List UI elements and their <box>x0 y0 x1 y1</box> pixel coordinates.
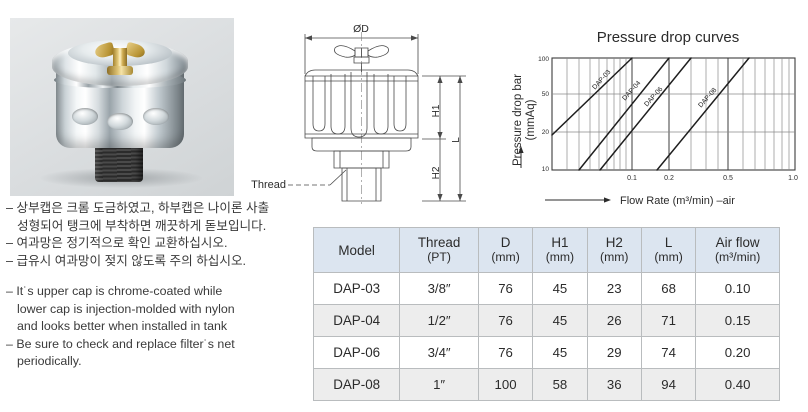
wing-nut-collar <box>107 66 133 75</box>
note-en-line: – Be sure to check and replace filter˙s … <box>6 336 306 354</box>
table-row: DAP-08 1″ 100 58 36 94 0.40 <box>314 369 780 401</box>
chart-xtick-label: 0.1 <box>627 175 637 182</box>
cell-h2: 29 <box>587 337 641 369</box>
body-dimple <box>143 108 169 125</box>
chart-ytick-label: 50 <box>542 91 550 98</box>
chart-ytick-label: 100 <box>538 56 549 63</box>
note-en-line: periodically. <box>6 353 306 371</box>
cell-model: DAP-06 <box>314 337 400 369</box>
cell-airflow: 0.15 <box>696 305 780 337</box>
wing-nut-icon <box>96 44 144 74</box>
column-header-text: H2 <box>606 235 623 250</box>
column-header-thread: Thread (PT) <box>400 228 479 273</box>
thread-callout-label: Thread <box>251 179 286 191</box>
column-header-text: L <box>665 235 672 250</box>
cell-h1: 45 <box>533 305 587 337</box>
table-row: DAP-03 3/8″ 76 45 23 68 0.10 <box>314 273 780 305</box>
column-header-unit: (mm) <box>589 250 640 265</box>
chart-xlabel: Flow Rate (m³/min) –air <box>620 195 735 207</box>
note-ko-line: – 여과망은 정기적으로 확인 교환하십시오. <box>6 235 306 253</box>
column-header-d: D (mm) <box>478 228 532 273</box>
column-header-unit: (PT) <box>401 250 477 265</box>
note-ko-line: 성형되어 탱크에 부착하면 깨끗하게 돋보입니다. <box>6 218 306 236</box>
body-dimple <box>107 113 133 130</box>
cell-h2: 36 <box>587 369 641 401</box>
cell-d: 76 <box>478 337 532 369</box>
cell-model: DAP-03 <box>314 273 400 305</box>
chart-ylabel-unit: (mmAq) <box>525 99 537 140</box>
cell-thread: 3/8″ <box>400 273 479 305</box>
chart-plot-area <box>552 58 795 170</box>
cell-airflow: 0.10 <box>696 273 780 305</box>
chart-title: Pressure drop curves <box>597 29 740 46</box>
cell-l: 94 <box>641 369 695 401</box>
cell-h2: 23 <box>587 273 641 305</box>
column-header-text: Thread <box>418 235 460 250</box>
dimension-drawing: ØD H1 H2 L Thread <box>250 18 502 210</box>
column-header-text: Model <box>338 243 374 258</box>
note-en-line: lower cap is injection-molded with nylon <box>6 301 306 319</box>
column-header-unit: (mm) <box>480 250 531 265</box>
cell-thread: 1/2″ <box>400 305 479 337</box>
cell-l: 68 <box>641 273 695 305</box>
cell-airflow: 0.40 <box>696 369 780 401</box>
cell-l: 71 <box>641 305 695 337</box>
note-ko-line: – 급유시 여과망이 젖지 않도록 주의 하십시오. <box>6 253 306 271</box>
cell-thread: 1″ <box>400 369 479 401</box>
description-text-block: – 상부캡은 크롬 도금하였고, 하부캡은 나이론 사출 성형되어 탱크에 부착… <box>6 200 306 371</box>
note-en-line: – It˙s upper cap is chrome-coated while <box>6 283 306 301</box>
product-photo <box>10 18 234 196</box>
column-header-text: D <box>501 235 511 250</box>
column-header-unit: (mm) <box>643 250 694 265</box>
cell-d: 100 <box>478 369 532 401</box>
chart-xtick-label: 0.5 <box>723 175 733 182</box>
copy-spacer <box>6 270 306 283</box>
column-header-h2: H2 (mm) <box>587 228 641 273</box>
column-header-unit: (m³/min) <box>697 250 778 265</box>
table-row: DAP-04 1/2″ 76 45 26 71 0.15 <box>314 305 780 337</box>
cell-h1: 45 <box>533 337 587 369</box>
table-row: DAP-06 3/4″ 76 45 29 74 0.20 <box>314 337 780 369</box>
column-header-h1: H1 (mm) <box>533 228 587 273</box>
note-en-line: and looks better when installed in tank <box>6 318 306 336</box>
cell-model: DAP-04 <box>314 305 400 337</box>
column-header-model: Model <box>314 228 400 273</box>
column-header-airflow: Air flow (m³/min) <box>696 228 780 273</box>
table-header-row: Model Thread (PT) D (mm) H1 (mm) H2 (mm)… <box>314 228 780 273</box>
cell-thread: 3/4″ <box>400 337 479 369</box>
diameter-dimension-label: ØD <box>353 23 369 35</box>
column-header-l: L (mm) <box>641 228 695 273</box>
cell-h1: 58 <box>533 369 587 401</box>
cell-d: 76 <box>478 305 532 337</box>
h2-dimension-label: H2 <box>431 166 442 179</box>
cell-h1: 45 <box>533 273 587 305</box>
chart-ytick-label: 20 <box>542 129 550 136</box>
wing-right <box>125 42 147 60</box>
cell-airflow: 0.20 <box>696 337 780 369</box>
chart-xtick-label: 1.0 <box>788 175 798 182</box>
column-header-text: H1 <box>551 235 568 250</box>
body-dimple <box>72 108 98 125</box>
cell-h2: 26 <box>587 305 641 337</box>
chart-ytick-label: 10 <box>542 166 550 173</box>
pressure-drop-chart: Pressure drop curves Pressure drop bar (… <box>505 20 805 212</box>
column-header-unit: (mm) <box>534 250 585 265</box>
threaded-base <box>95 144 143 182</box>
cell-d: 76 <box>478 273 532 305</box>
chart-xtick-label: 0.2 <box>664 175 674 182</box>
h1-dimension-label: H1 <box>431 104 442 117</box>
specification-table: Model Thread (PT) D (mm) H1 (mm) H2 (mm)… <box>313 227 780 401</box>
cell-l: 74 <box>641 337 695 369</box>
cell-model: DAP-08 <box>314 369 400 401</box>
l-dimension-label: L <box>451 137 462 143</box>
column-header-text: Air flow <box>716 235 760 250</box>
